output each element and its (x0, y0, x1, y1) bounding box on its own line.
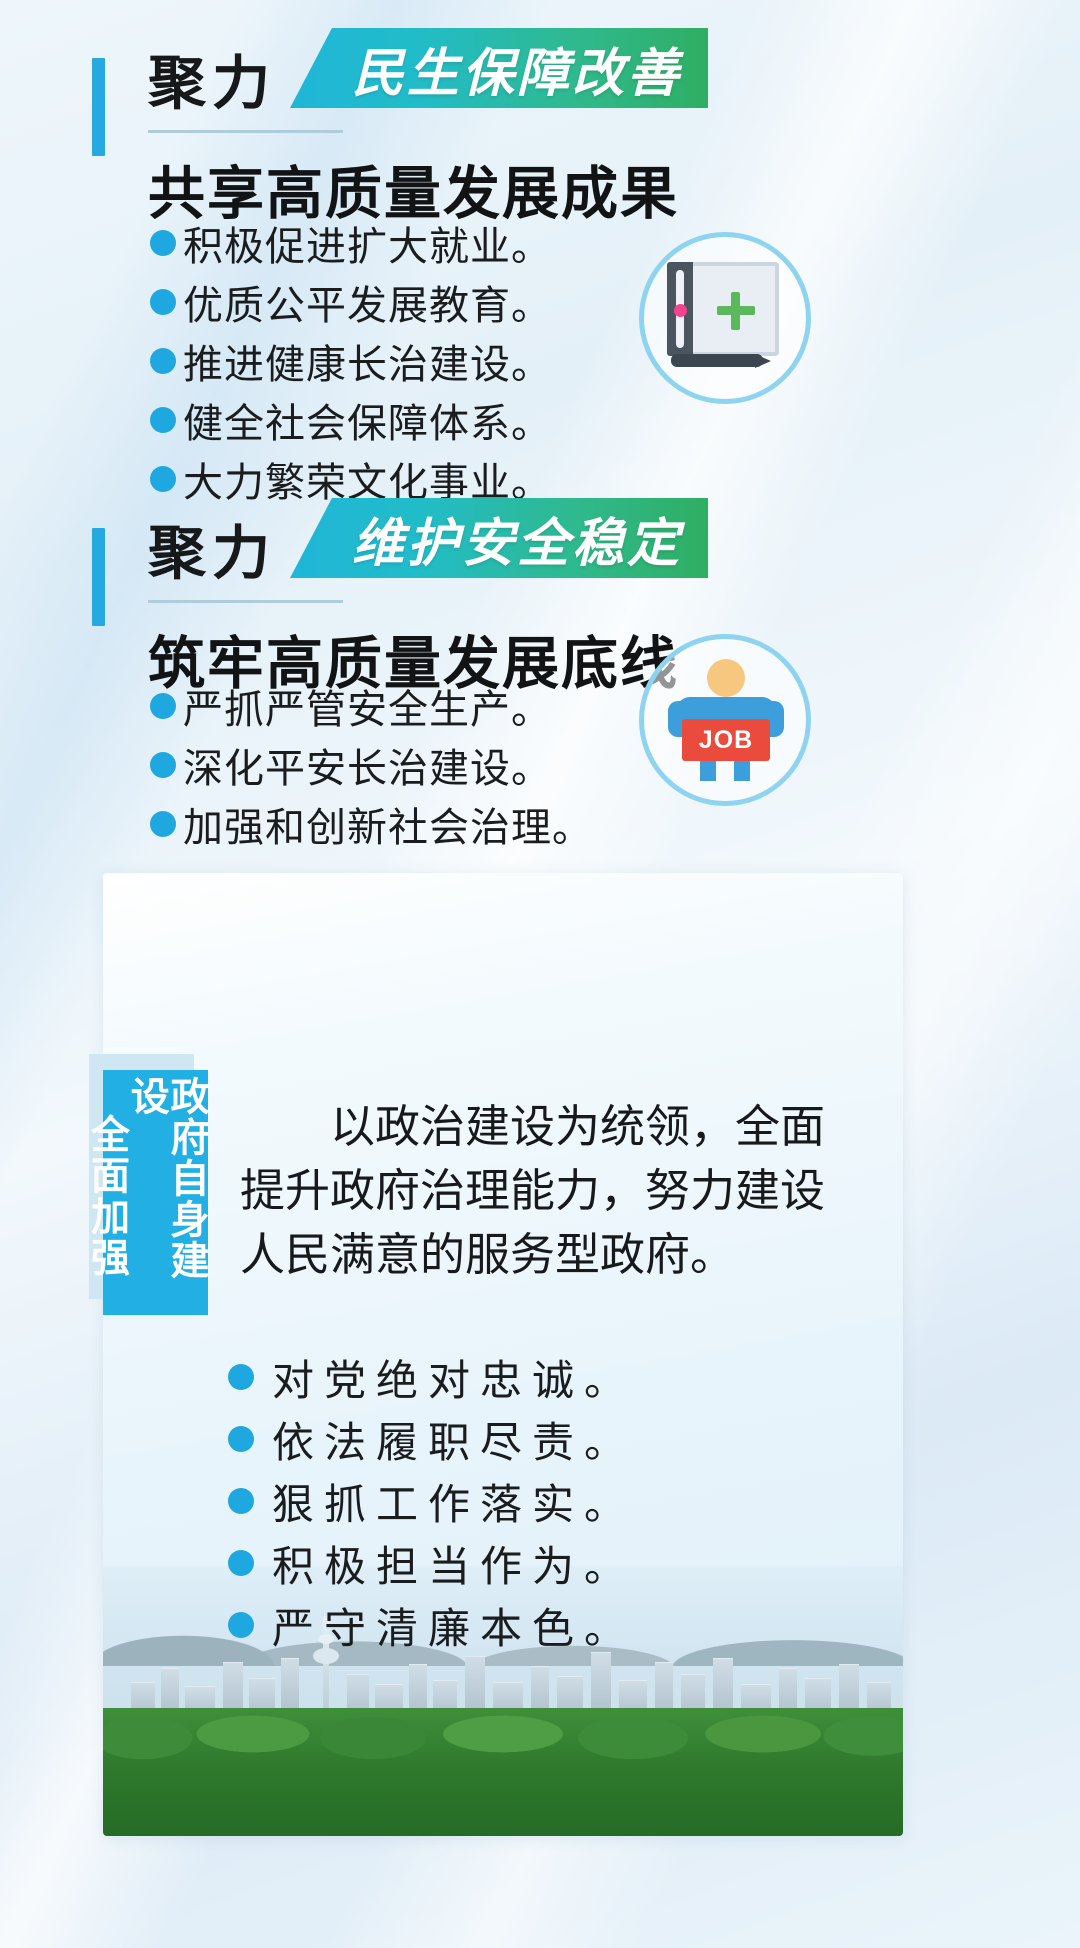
notebook-graphic (667, 262, 783, 374)
job-worker-icon: JOB (639, 634, 811, 806)
section-prefix-label: 聚力 (148, 36, 276, 120)
bullet-dot-icon (150, 693, 176, 719)
list-item: 优质公平发展教育。 (150, 274, 552, 330)
government-bullet-list: 对党绝对忠诚。 依法履职尽责。 狠抓工作落实。 积极担当作为。 严守清廉本色。 (228, 1346, 636, 1656)
notebook-knob-icon (674, 304, 687, 317)
list-item: 依法履职尽责。 (228, 1408, 636, 1470)
list-item-label: 积极促进扩大就业。 (183, 214, 552, 272)
job-sign-label: JOB (699, 726, 753, 755)
plus-icon (731, 292, 740, 330)
divider-line (148, 130, 343, 133)
bullet-dot-icon (150, 289, 176, 315)
section-security: 聚力 维护安全稳定 筑牢高质量发展底线 严抓严管安全生产。 深化平安长治建设。 … (0, 470, 1080, 582)
vertical-label-main: 政府自身建设 (126, 1076, 206, 1315)
bullet-dot-icon (228, 1612, 254, 1638)
list-item: 严守清廉本色。 (228, 1594, 636, 1656)
bullet-list: 积极促进扩大就业。 优质公平发展教育。 推进健康长治建设。 健全社会保障体系。 … (150, 215, 552, 510)
worker-graphic: JOB (662, 657, 788, 783)
pen-tip-icon (755, 354, 771, 368)
list-item-label: 严抓严管安全生产。 (183, 677, 552, 735)
bullet-dot-icon (228, 1426, 254, 1452)
vertical-label-second: 全面加强 (87, 1076, 127, 1278)
job-sign-icon: JOB (682, 719, 770, 761)
worker-head-icon (707, 659, 745, 697)
list-item-label: 严守清廉本色。 (272, 1595, 636, 1656)
list-item-label: 加强和创新社会治理。 (183, 795, 593, 853)
bullet-dot-icon (228, 1364, 254, 1390)
vertical-label-block: 政府自身建设 全面加强 (103, 1070, 208, 1315)
section-banner-label: 民生保障改善 (352, 31, 682, 106)
list-item: 积极担当作为。 (228, 1532, 636, 1594)
list-item: 积极促进扩大就业。 (150, 215, 552, 271)
list-item: 对党绝对忠诚。 (228, 1346, 636, 1408)
infographic-page: 聚力 民生保障改善 共享高质量发展成果 积极促进扩大就业。 优质公平发展教育。 … (0, 0, 1080, 1948)
treeline-layer (103, 1708, 903, 1836)
list-item-label: 优质公平发展教育。 (183, 273, 552, 331)
bullet-list: 严抓严管安全生产。 深化平安长治建设。 加强和创新社会治理。 (150, 678, 593, 855)
list-item: 严抓严管安全生产。 (150, 678, 593, 734)
list-item-label: 依法履职尽责。 (272, 1409, 636, 1470)
bullet-dot-icon (150, 752, 176, 778)
bullet-dot-icon (150, 230, 176, 256)
list-item: 健全社会保障体系。 (150, 392, 552, 448)
list-item: 加强和创新社会治理。 (150, 796, 593, 852)
list-item: 推进健康长治建设。 (150, 333, 552, 389)
bullet-dot-icon (228, 1550, 254, 1576)
list-item-label: 积极担当作为。 (272, 1533, 636, 1594)
section-prefix-label: 聚力 (148, 506, 276, 590)
section-banner-label: 维护安全稳定 (352, 501, 682, 576)
government-paragraph: 以政治建设为统领，全面提升政府治理能力，努力建设人民满意的服务型政府。 (240, 1096, 840, 1288)
bullet-dot-icon (228, 1488, 254, 1514)
section-banner: 民生保障改善 (290, 28, 708, 108)
divider-line (148, 600, 343, 603)
section-header: 聚力 维护安全稳定 筑牢高质量发展底线 (0, 470, 1080, 582)
list-item-label: 深化平安长治建设。 (183, 736, 552, 794)
list-item-label: 健全社会保障体系。 (183, 391, 552, 449)
section-livelihood: 聚力 民生保障改善 共享高质量发展成果 积极促进扩大就业。 优质公平发展教育。 … (0, 0, 1080, 112)
bullet-dot-icon (150, 811, 176, 837)
accent-bar-icon (92, 58, 105, 156)
list-item-label: 狠抓工作落实。 (272, 1471, 636, 1532)
list-item: 狠抓工作落实。 (228, 1470, 636, 1532)
section-banner: 维护安全稳定 (290, 498, 708, 578)
list-item-label: 对党绝对忠诚。 (272, 1347, 636, 1408)
list-item-label: 推进健康长治建设。 (183, 332, 552, 390)
pen-icon (671, 354, 763, 367)
notebook-pen-icon (639, 232, 811, 404)
list-item: 深化平安长治建设。 (150, 737, 593, 793)
section-header: 聚力 民生保障改善 共享高质量发展成果 (0, 0, 1080, 112)
bullet-dot-icon (150, 348, 176, 374)
bullet-dot-icon (150, 407, 176, 433)
accent-bar-icon (92, 528, 105, 626)
